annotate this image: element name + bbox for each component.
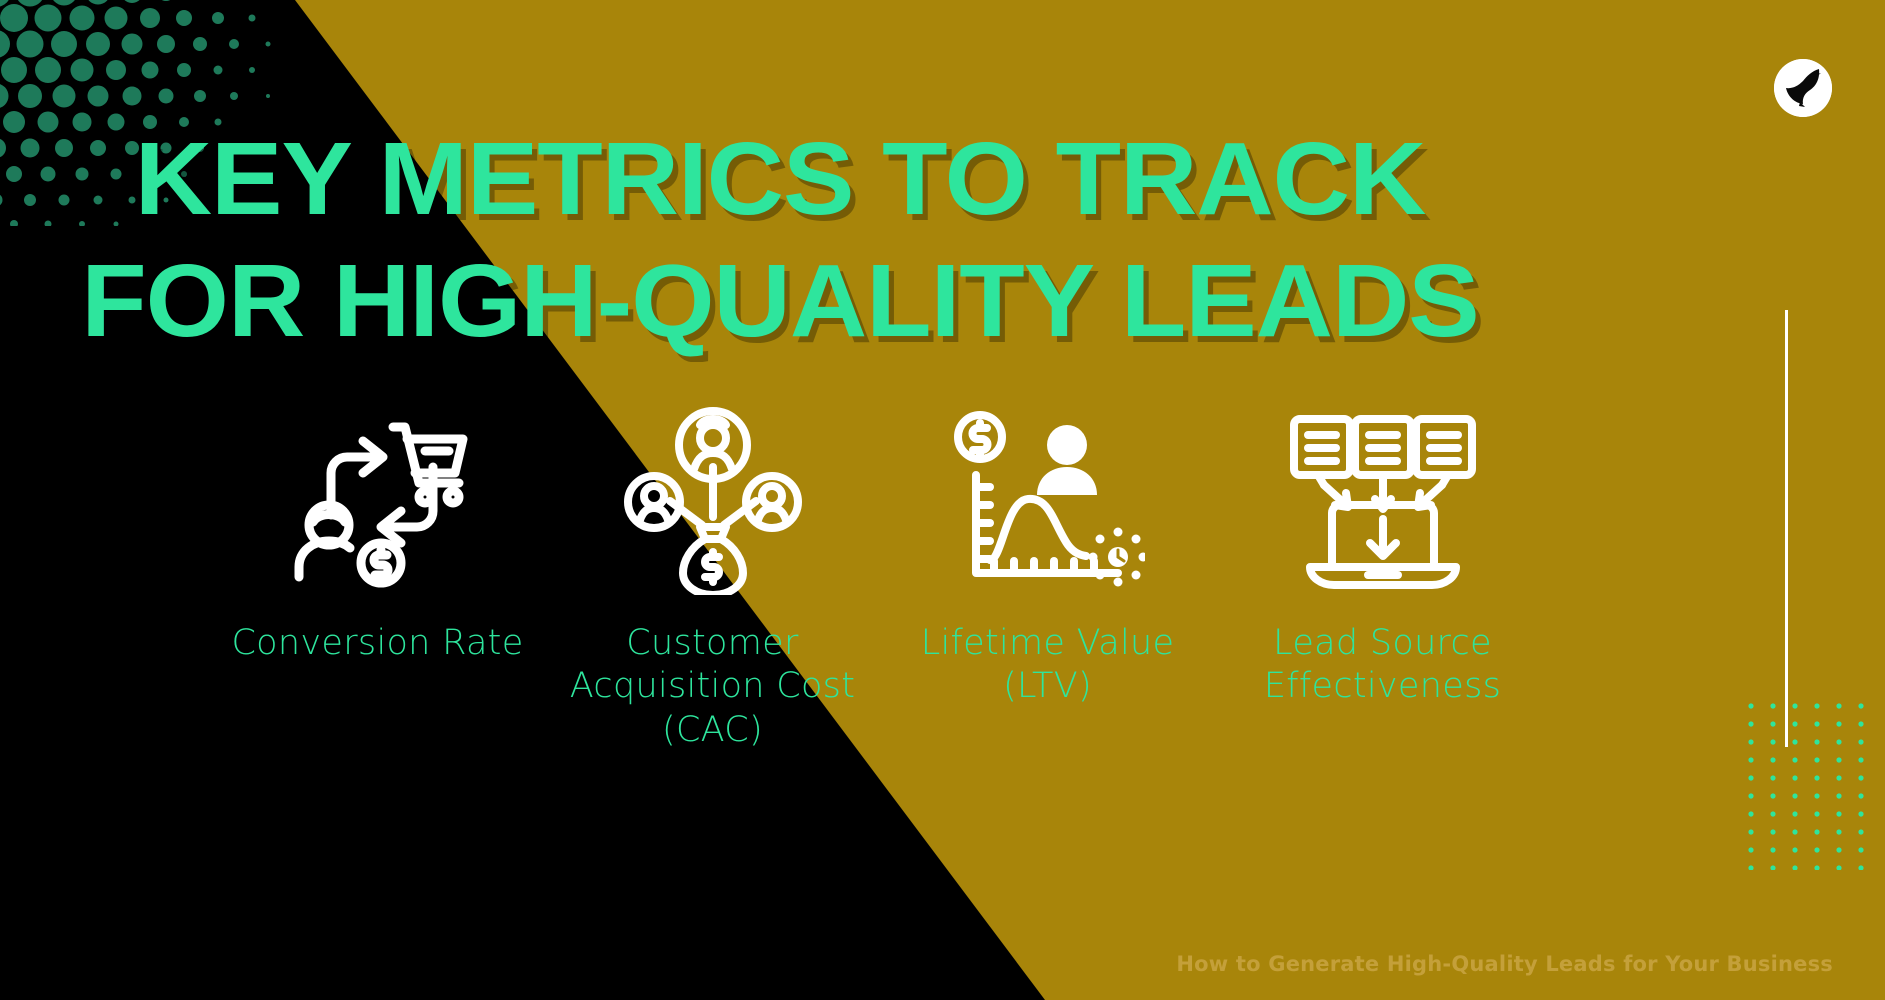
vertical-divider-line [1785, 310, 1788, 747]
metric-label: Lead Source Effectiveness [1263, 622, 1503, 709]
slide-canvas: KEY METRICS TO TRACK FOR HIGH-QUALITY LE… [0, 0, 1885, 1000]
title-line-2: FOR HIGH-QUALITY LEADS [0, 240, 1591, 362]
metric-item-lifetime-value: Lifetime Value (LTV) [880, 400, 1215, 752]
footer-caption: How to Generate High-Quality Leads for Y… [1176, 952, 1833, 976]
title-line-1: KEY METRICS TO TRACK [0, 118, 1591, 240]
metric-item-conversion-rate: Conversion Rate [210, 400, 545, 752]
conversion-rate-icon [283, 400, 473, 600]
customer-acquisition-cost-icon [618, 400, 808, 600]
metric-item-customer-acquisition-cost: Customer Acquisition Cost (CAC) [545, 400, 880, 752]
metric-item-lead-source-effectiveness: Lead Source Effectiveness [1215, 400, 1550, 752]
lead-source-effectiveness-icon [1288, 400, 1478, 600]
metrics-row: Conversion Rate [210, 400, 1550, 752]
page-title: KEY METRICS TO TRACK FOR HIGH-QUALITY LE… [0, 118, 1560, 361]
metric-label: Conversion Rate [231, 622, 523, 665]
metric-label: Customer Acquisition Cost (CAC) [563, 622, 863, 752]
metric-label: Lifetime Value (LTV) [898, 622, 1198, 709]
brand-logo [1772, 57, 1834, 119]
lifetime-value-icon [950, 400, 1145, 600]
dot-grid-pattern [1745, 700, 1865, 870]
